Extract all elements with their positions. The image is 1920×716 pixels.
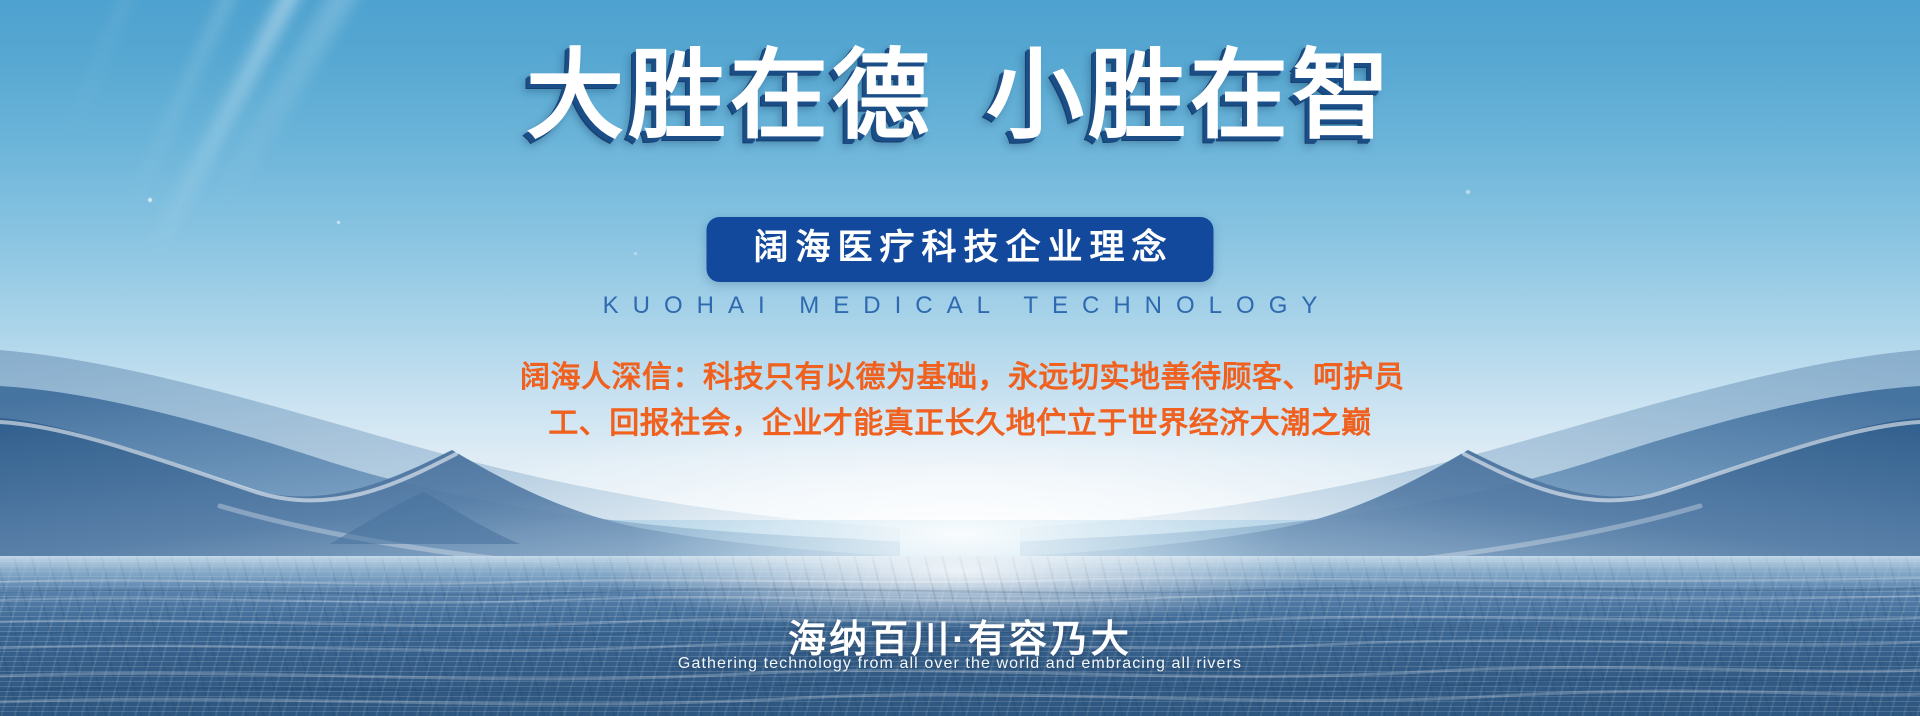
brand-culture-banner: 大胜在德小胜在智 阔海医疗科技企业理念 KUOHAI MEDICAL TECHN… xyxy=(0,0,1920,716)
motto-english: Gathering technology from all over the w… xyxy=(0,655,1920,673)
creed-line-1: 阔海人深信：科技只有以德为基础，永远切实地善待顾客、呵护员 xyxy=(520,355,1400,401)
banner-content: 大胜在德小胜在智 阔海医疗科技企业理念 KUOHAI MEDICAL TECHN… xyxy=(0,0,1920,716)
headline-part-1: 大胜在德 xyxy=(526,40,934,150)
headline: 大胜在德小胜在智 xyxy=(0,46,1920,144)
headline-part-2: 小胜在智 xyxy=(986,40,1394,150)
creed-paragraph: 阔海人深信：科技只有以德为基础，永远切实地善待顾客、呵护员 工、回报社会，企业才… xyxy=(520,355,1400,447)
english-subtitle: KUOHAI MEDICAL TECHNOLOGY xyxy=(0,292,1920,320)
philosophy-badge: 阔海医疗科技企业理念 xyxy=(706,217,1213,282)
creed-line-2: 工、回报社会，企业才能真正长久地伫立于世界经济大潮之巅 xyxy=(520,401,1400,447)
